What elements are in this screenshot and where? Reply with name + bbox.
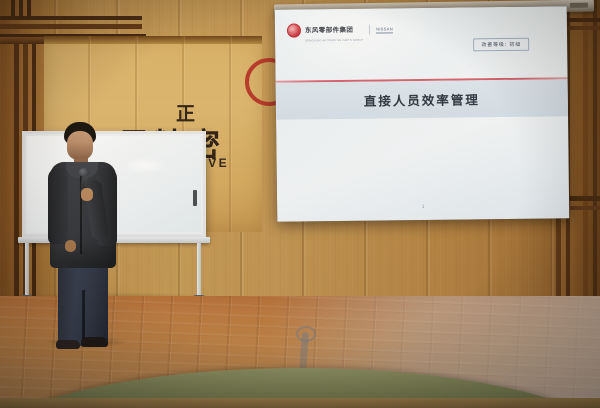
logo-divider [369, 25, 370, 35]
slide-logo-company: 东风零部件集团 [305, 26, 353, 35]
stage-apron [0, 398, 600, 408]
slide-logo-partner: NISSAN [376, 26, 393, 33]
wall-pilaster-1 [11, 0, 15, 18]
slide-title: 直接人员效率管理 [276, 88, 568, 111]
microphone-head-icon [79, 168, 89, 177]
wall-pilaster-4 [14, 44, 19, 302]
presenter-shoe-left [56, 340, 80, 349]
slide-logo: 东风零部件集团 DONGFENG AUTOMOTIVE PARTS GROUP … [287, 18, 393, 42]
presenter-hand-left [65, 240, 76, 252]
roller-end-cap [570, 3, 588, 8]
projection-screen-frame: 东风零部件集团 DONGFENG AUTOMOTIVE PARTS GROUP … [275, 6, 570, 222]
wall-pilaster-2 [19, 0, 23, 18]
whiteboard-glare [123, 157, 168, 174]
wall-pilaster-right-3 [583, 0, 588, 300]
presenter-arm-left [48, 168, 68, 244]
wall-trim-top-2 [0, 24, 142, 29]
wall-pilaster-right-4 [593, 0, 597, 300]
company-badge-icon [287, 24, 301, 38]
whiteboard-leg-right [197, 243, 201, 297]
presenter-shoe-right [81, 337, 108, 347]
presentation-photo: 正 风精密 NGFENG INVE 东风零部件集团 DONGFENG AUTOM… [0, 0, 600, 408]
wall-pilaster-3 [27, 0, 31, 18]
slide-page-number: 1 [277, 202, 569, 212]
presenter-hand-right [81, 188, 93, 201]
whiteboard-marker [193, 190, 197, 206]
presenter [48, 122, 120, 342]
slide-level-tag: 改善等级: 初级 [473, 38, 529, 52]
projection-screen: 东风零部件集团 DONGFENG AUTOMOTIVE PARTS GROUP … [275, 6, 570, 222]
whiteboard-leg-left [25, 243, 29, 297]
